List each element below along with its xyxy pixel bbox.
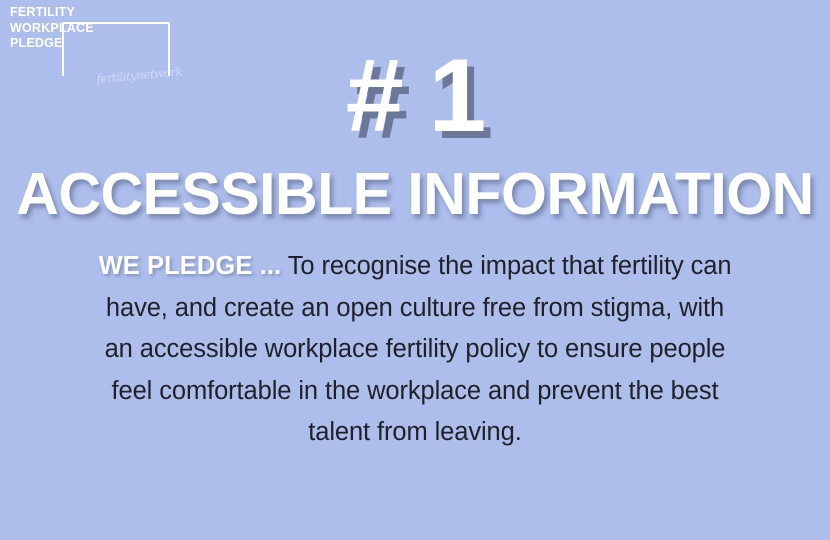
pledge-lead-label: WE PLEDGE ...	[99, 252, 282, 280]
page-title: ACCESSIBLE INFORMATION	[0, 163, 830, 225]
logo-line-fertility: FERTILITY	[10, 5, 122, 21]
pledge-statement: WE PLEDGE ... To recognise the impact th…	[95, 246, 735, 454]
rank-number: # 1	[0, 44, 830, 148]
pledge-slide: FERTILITY WORKPLACE PLEDGE fertilitynetw…	[0, 0, 830, 540]
pledge-body-text: To recognise the impact that fertility c…	[105, 252, 732, 446]
logo-line-workplace: WORKPLACE	[10, 21, 122, 37]
